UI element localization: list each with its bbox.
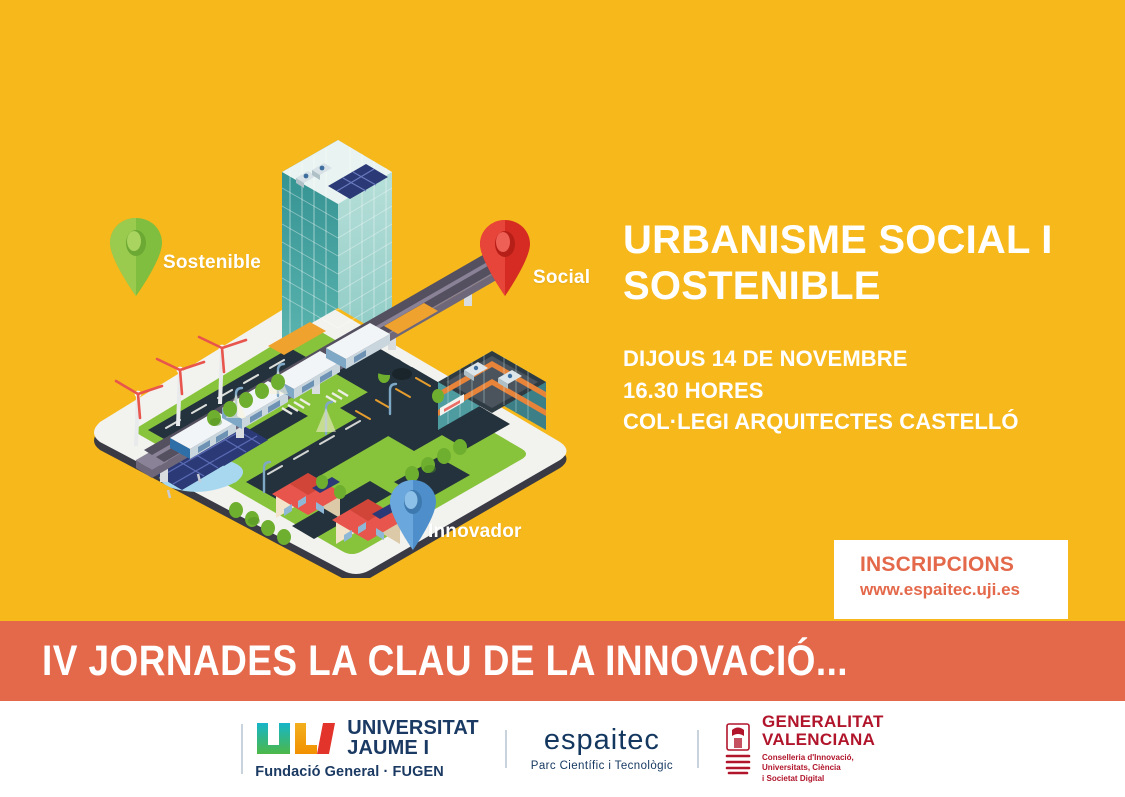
pin-label-innovador: Innovador (428, 521, 522, 543)
uji-name: UNIVERSITAT JAUME I (347, 718, 478, 759)
generalitat-valenciana-logo: GENERALITAT VALENCIANA Conselleria d'Inn… (699, 713, 884, 785)
pin-label-social: Social (533, 267, 590, 289)
isometric-city-illustration (40, 78, 620, 578)
uji-logo: UNIVERSITAT JAUME I Fundació General · F… (241, 718, 504, 781)
gva-crest-icon (723, 722, 753, 776)
bottom-banner: IV JORNADES LA CLAU DE LA INNOVACIÓ... (0, 621, 1125, 701)
banner-title: IV JORNADES LA CLAU DE LA INNOVACIÓ... (42, 637, 848, 686)
gva-subtitle-line-1: Conselleria d'Innovació, (762, 753, 884, 764)
title-line-1: URBANISME SOCIAL I (623, 218, 1093, 264)
pin-label-sostenible: Sostenible (163, 252, 261, 274)
gva-subtitle-line-2: Universitats, Ciència (762, 763, 884, 774)
gva-subtitle: Conselleria d'Innovació, Universitats, C… (762, 753, 884, 785)
map-pin-social (478, 218, 532, 298)
espaitec-logo: espaitec Parc Científic i Tecnològic (505, 726, 699, 772)
logo-row: UNIVERSITAT JAUME I Fundació General · F… (241, 713, 883, 785)
uji-name-line-1: UNIVERSITAT (347, 718, 478, 738)
espaitec-subtitle: Parc Científic i Tecnològic (531, 760, 673, 772)
uji-logo-inner: UNIVERSITAT JAUME I Fundació General · F… (241, 718, 478, 781)
map-pin-sostenible (108, 216, 164, 298)
uji-subtitle: Fundació General · FUGEN (255, 764, 478, 780)
footer-logos: UNIVERSITAT JAUME I Fundació General · F… (0, 701, 1125, 797)
gva-name-line-1: GENERALITAT (762, 713, 884, 731)
event-date: DIJOUS 14 DE NOVEMBRE (623, 343, 1093, 374)
title-line-2: SOSTENIBLE (623, 264, 1093, 310)
map-pin-icon (478, 218, 532, 298)
event-details: DIJOUS 14 DE NOVEMBRE 16.30 HORES COL·LE… (623, 343, 1093, 437)
gva-name-line-2: VALENCIANA (762, 731, 884, 749)
gva-text: GENERALITAT VALENCIANA Conselleria d'Inn… (762, 713, 884, 785)
uji-logo-mark (255, 721, 337, 755)
uji-logo-top: UNIVERSITAT JAUME I (255, 718, 478, 759)
event-time: 16.30 HORES (623, 375, 1093, 406)
map-pin-icon (108, 216, 164, 298)
gva-subtitle-line-3: i Societat Digital (762, 774, 884, 785)
inscriptions-url[interactable]: www.espaitec.uji.es (860, 579, 1068, 601)
page-title: URBANISME SOCIAL I SOSTENIBLE (623, 218, 1093, 309)
event-venue: COL·LEGI ARQUITECTES CASTELLÓ (623, 406, 1093, 437)
inscriptions-heading: INSCRIPCIONS (860, 553, 1068, 577)
espaitec-wordmark: espaitec (544, 726, 660, 755)
uji-name-line-2: JAUME I (347, 738, 478, 758)
inscriptions-card[interactable]: INSCRIPCIONS www.espaitec.uji.es (834, 540, 1068, 619)
poster-root: Sostenible Social Innovador URBANISME SO… (0, 0, 1125, 797)
gva-name: GENERALITAT VALENCIANA (762, 713, 884, 749)
event-text-block: URBANISME SOCIAL I SOSTENIBLE DIJOUS 14 … (623, 218, 1093, 438)
skyscraper (282, 140, 392, 340)
